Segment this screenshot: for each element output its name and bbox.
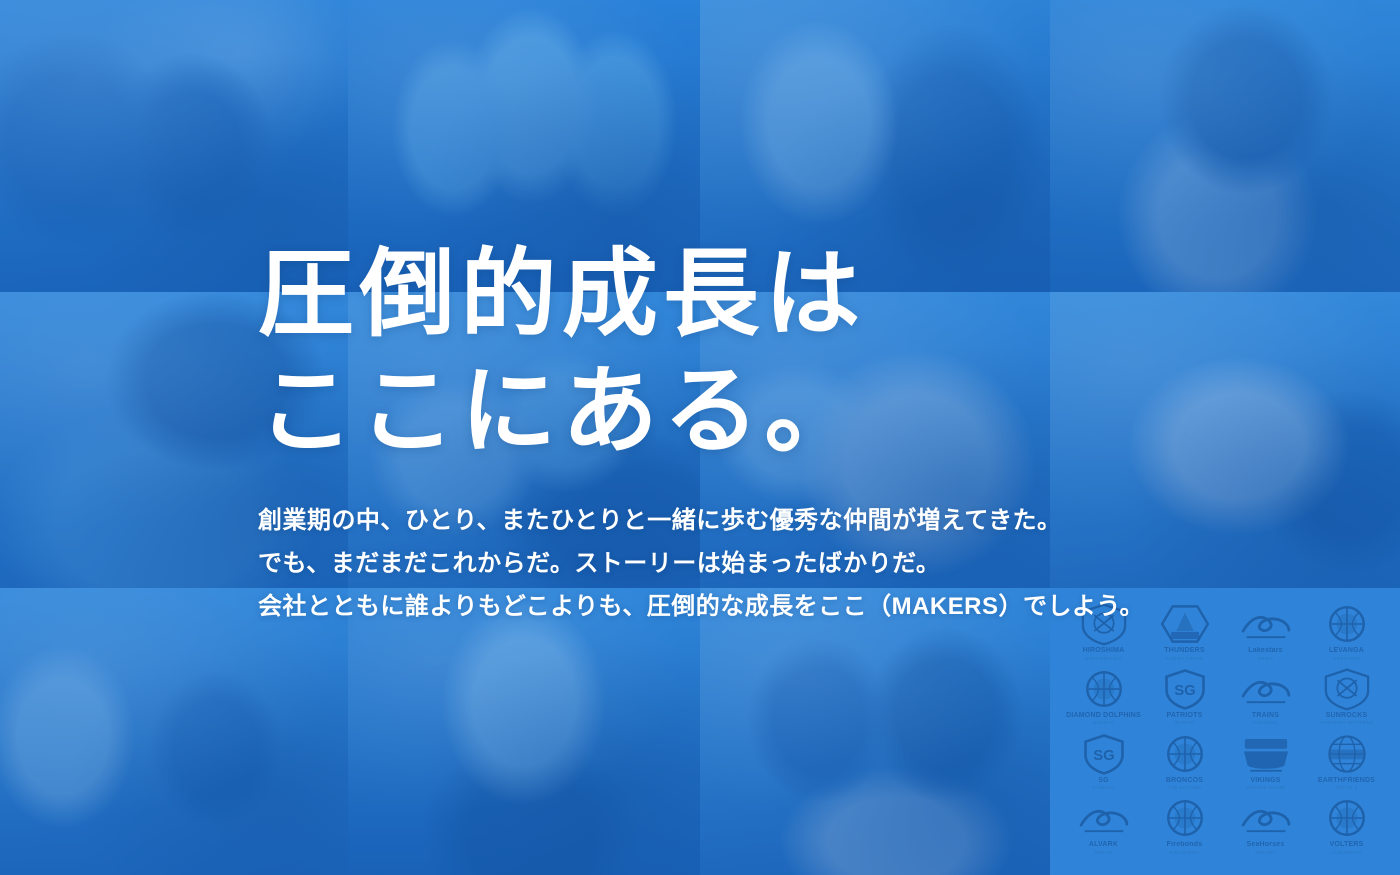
team-logo-cell: SGSGSHINSHU	[1064, 730, 1143, 793]
team-logo-subtitle: GUNMA CRANE	[1166, 656, 1204, 661]
team-logo-subtitle: YAMAGATA WYVERNS	[1319, 720, 1373, 725]
team-logo-name: LEVANGA	[1329, 647, 1364, 654]
team-logo-icon	[1239, 732, 1293, 776]
team-logo-icon	[1320, 796, 1374, 840]
team-logo-cell: FirebondsFUKUSHIMA	[1145, 794, 1224, 857]
team-logo-icon	[1239, 796, 1293, 840]
team-logo-name: DIAMOND DOLPHINS	[1066, 712, 1141, 719]
photo-tile-office-women-desk	[0, 588, 348, 875]
team-logo-cell: LEVANGAHOKKAIDO	[1307, 600, 1386, 663]
team-logo-name: VIKINGS	[1250, 777, 1280, 784]
team-logo-name: SeaHorses	[1247, 841, 1285, 848]
team-logo-name: TRAINS	[1252, 712, 1279, 719]
team-logo-name: THUNDERS	[1164, 647, 1205, 654]
team-logo-name: Firebonds	[1167, 841, 1203, 848]
team-logo-name: BRONCOS	[1166, 777, 1203, 784]
team-logo-cell: EARTHFRIENDSTOKYO Z	[1307, 730, 1386, 793]
photo-tile-two-men-reading	[700, 588, 1050, 875]
body-line-1: 創業期の中、ひとり、またひとりと一緒に歩む優秀な仲間が増えてきた。	[258, 500, 1268, 543]
headline-line-1: 圧倒的成長は	[258, 241, 866, 348]
team-logo-subtitle: TOKYO Z	[1335, 785, 1357, 790]
team-logo-name: EARTHFRIENDS	[1318, 777, 1375, 784]
team-logo-subtitle: MIKAWA	[1255, 850, 1275, 855]
team-logo-name: Lakestars	[1248, 647, 1283, 654]
team-logo-icon	[1077, 667, 1131, 711]
team-logo-icon: SG	[1077, 732, 1131, 776]
team-logo-subtitle: DRAGONFLIES	[1085, 656, 1122, 661]
team-logo-subtitle: IBARAKI	[1174, 720, 1195, 725]
hero-banner: HIROSHIMADRAGONFLIESTHUNDERSGUNMA CRANEL…	[0, 0, 1400, 875]
team-logo-icon	[1320, 732, 1374, 776]
team-logo-subtitle: HOKKAIDO	[1333, 656, 1360, 661]
team-logo-name: ALVARK	[1089, 841, 1118, 848]
body-line-3: 会社とともに誰よりもどこよりも、圧倒的な成長をここ（MAKERS）でしよう。	[258, 586, 1268, 629]
team-logo-cell: SeaHorsesMIKAWA	[1226, 794, 1305, 857]
team-logo-icon	[1239, 667, 1293, 711]
team-logo-name: SG	[1098, 777, 1109, 784]
page-title: 圧倒的成長はここにある。	[258, 236, 1268, 470]
team-logo-cell: SUNROCKSYAMAGATA WYVERNS	[1307, 665, 1386, 728]
team-logo-icon: SG	[1158, 667, 1212, 711]
team-logo-cell: ALVARKTOKYO	[1064, 794, 1143, 857]
team-logo-subtitle: KUMAMOTO	[1332, 850, 1362, 855]
team-logo-cell: DIAMOND DOLPHINSNAGOYA	[1064, 665, 1143, 728]
team-logo-subtitle: THE SAITAMA	[1167, 785, 1201, 790]
team-logo-cell: SGPATRIOTSIBARAKI	[1145, 665, 1224, 728]
svg-text:SG: SG	[1174, 682, 1196, 699]
team-logo-subtitle: NAGOYA	[1093, 720, 1114, 725]
team-logo-cell: VIKINGSORANGE EHIME	[1226, 730, 1305, 793]
photo-tile-team-logo-wall: HIROSHIMADRAGONFLIESTHUNDERSGUNMA CRANEL…	[1050, 588, 1400, 875]
hero-body-copy: 創業期の中、ひとり、またひとりと一緒に歩む優秀な仲間が増えてきた。 でも、まだま…	[258, 500, 1268, 628]
team-logo-subtitle: SHINSHU	[1092, 785, 1115, 790]
team-logo-icon	[1320, 667, 1374, 711]
team-logo-cell: BRONCOSTHE SAITAMA	[1145, 730, 1224, 793]
team-logo-grid: HIROSHIMADRAGONFLIESTHUNDERSGUNMA CRANEL…	[1050, 588, 1400, 875]
hero-copy: 圧倒的成長はここにある。 創業期の中、ひとり、またひとりと一緒に歩む優秀な仲間が…	[258, 236, 1268, 628]
team-logo-subtitle: TOKYO	[1095, 850, 1113, 855]
team-logo-cell: TRAINSFUKUOKA	[1226, 665, 1305, 728]
svg-text:SG: SG	[1093, 747, 1115, 764]
team-logo-subtitle: FUKUOKA	[1253, 720, 1278, 725]
team-logo-cell: VOLTERSKUMAMOTO	[1307, 794, 1386, 857]
team-logo-icon	[1320, 602, 1374, 646]
photo-tile-man-portrait-massage-gun	[348, 588, 700, 875]
team-logo-name: HIROSHIMA	[1083, 647, 1125, 654]
team-logo-subtitle: SHIGA	[1257, 656, 1273, 661]
team-logo-icon	[1158, 732, 1212, 776]
team-logo-name: PATRIOTS	[1167, 712, 1203, 719]
team-logo-icon	[1077, 796, 1131, 840]
headline-line-2: ここにある。	[258, 358, 866, 465]
team-logo-name: SUNROCKS	[1326, 712, 1368, 719]
team-logo-subtitle: FUKUSHIMA	[1169, 850, 1199, 855]
team-logo-name: VOLTERS	[1330, 841, 1364, 848]
team-logo-icon	[1158, 796, 1212, 840]
body-line-2: でも、まだまだこれからだ。ストーリーは始まったばかりだ。	[258, 543, 1268, 586]
team-logo-subtitle: ORANGE EHIME	[1246, 785, 1286, 790]
